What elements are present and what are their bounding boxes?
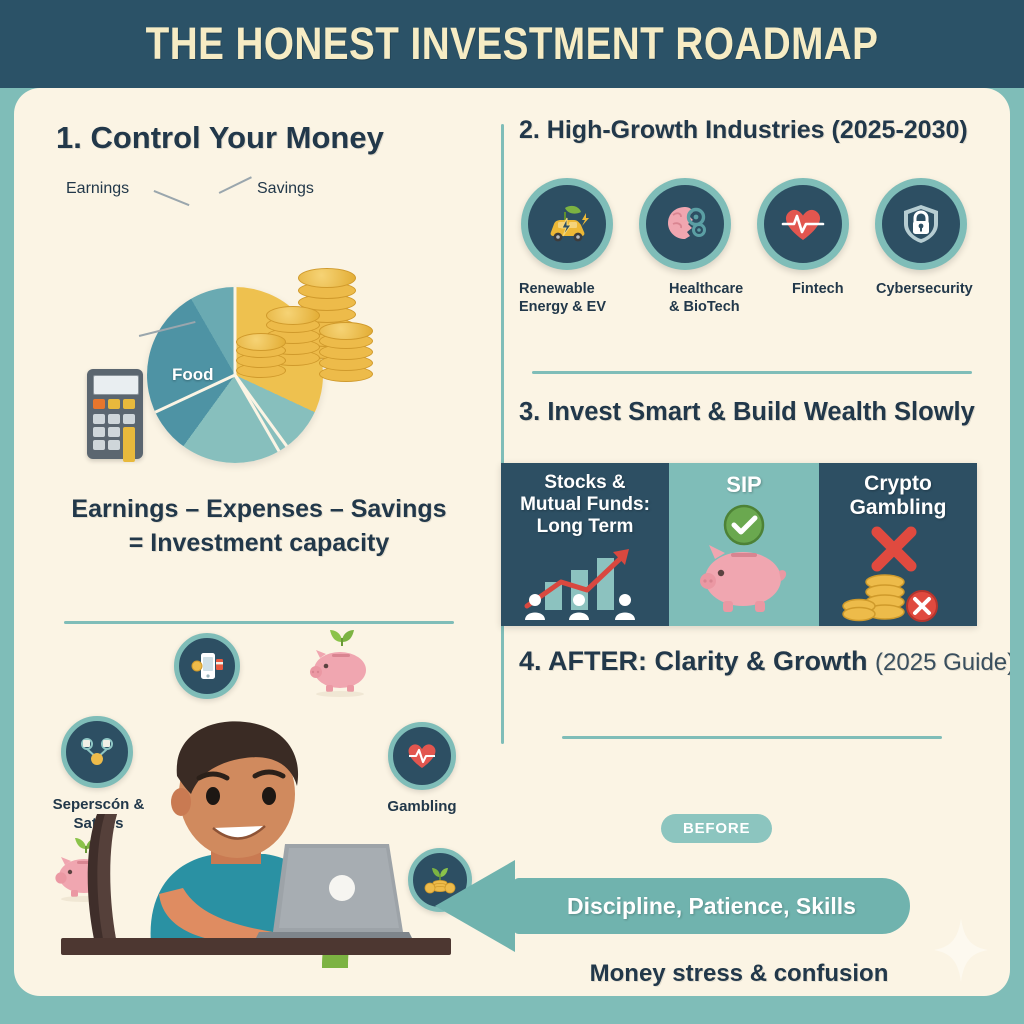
- page-title: THE HONEST INVESTMENT ROADMAP: [146, 18, 879, 70]
- status-badge-before: BEFORE: [661, 814, 772, 843]
- industry-icon-renewable: [521, 178, 613, 270]
- arrow-label: Discipline, Patience, Skills: [513, 878, 910, 934]
- section-4-heading: 4. AFTER: Clarity & Growth (2025 Guide): [519, 646, 1010, 677]
- invest-panel-crypto-title: Crypto Gambling: [819, 472, 977, 520]
- invest-panel-stocks: Stocks & Mutual Funds: Long Term: [501, 463, 669, 626]
- formula-line-1: Earnings – Expenses – Savings: [54, 493, 464, 527]
- growth-chart-icon: [501, 536, 669, 626]
- industry-label-renewable: Renewable Energy & EV: [519, 280, 629, 316]
- mobile-payment-icon: [174, 633, 240, 699]
- money-stress-text: Money stress & confusion: [501, 960, 977, 988]
- section-2-divider: [532, 371, 972, 374]
- arrow-head-icon: [435, 860, 515, 952]
- section-1-heading: 1. Control Your Money: [56, 120, 384, 156]
- column-divider: [501, 124, 504, 744]
- industry-label-cybersecurity: Cybersecurity: [876, 280, 996, 298]
- industry-label-healthcare: Healthcare & BioTech: [669, 280, 779, 316]
- person-scene: Seperscón & Sateris Gambling: [14, 608, 501, 996]
- industry-icon-fintech: [757, 178, 849, 270]
- section-2-heading: 2. High-Growth Industries (2025-2030): [519, 116, 968, 145]
- piggy-bank-check-icon: [669, 501, 819, 626]
- sparkle-icon: [934, 918, 988, 982]
- invest-panel-stocks-title: Stocks & Mutual Funds: Long Term: [501, 472, 669, 538]
- section-3-heading: 3. Invest Smart & Build Wealth Slowly: [519, 398, 975, 427]
- formula-line-2: = Investment capacity: [54, 527, 464, 561]
- industry-icon-cybersecurity: [875, 178, 967, 270]
- pie-slice-label-food: Food: [172, 365, 214, 385]
- coin-stack-right: [319, 320, 375, 392]
- red-x-coins-icon: [819, 526, 977, 626]
- header-banner: THE HONEST INVESTMENT ROADMAP: [0, 0, 1024, 88]
- invest-panel-crypto: Crypto Gambling: [819, 463, 977, 626]
- coin-stack-short: [236, 333, 288, 393]
- section-4-heading-light: (2025 Guide): [875, 649, 1010, 676]
- infographic-poster: THE HONEST INVESTMENT ROADMAP 1. Control…: [0, 0, 1024, 1024]
- leader-line-earnings: [154, 190, 190, 206]
- investment-formula: Earnings – Expenses – Savings = Investme…: [54, 493, 464, 561]
- invest-panel-sip-title: SIP: [669, 472, 819, 497]
- content-card: 1. Control Your Money: [14, 88, 1010, 996]
- leader-line-savings: [219, 176, 252, 193]
- desk-surface: [61, 938, 451, 955]
- pie-callout-earnings: Earnings: [66, 180, 129, 198]
- section-4-divider: [562, 736, 942, 739]
- invest-panel-sip: SIP: [669, 463, 819, 626]
- section-4-heading-bold: 4. AFTER: Clarity & Growth: [519, 646, 868, 676]
- piggy-bank-icon-top: [302, 628, 378, 703]
- industry-icon-healthcare: [639, 178, 731, 270]
- transition-arrow: Discipline, Patience, Skills: [435, 860, 910, 952]
- pie-callout-savings: Savings: [257, 180, 314, 198]
- invest-panels: Stocks & Mutual Funds: Long Term SIP: [501, 463, 977, 626]
- person-at-laptop-icon: [59, 718, 459, 963]
